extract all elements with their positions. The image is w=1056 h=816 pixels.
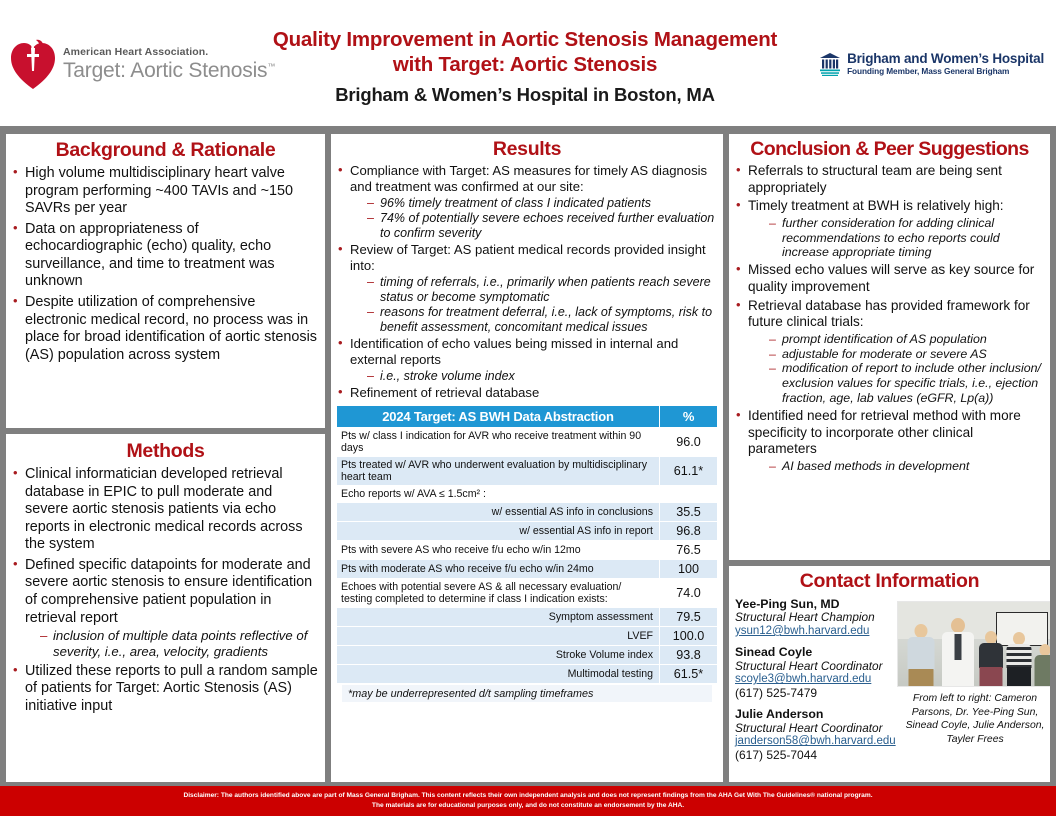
- sub-list-item: further consideration for adding clinica…: [768, 216, 1045, 261]
- contact-name: Sinead Coyle: [735, 645, 891, 659]
- results-sub-list-2: timing of referrals, i.e., primarily whe…: [350, 275, 718, 335]
- table-row: w/ essential AS info in conclusions35.5: [337, 502, 718, 521]
- table-row: Pts w/ class I indication for AVR who re…: [337, 427, 718, 456]
- poster-title-line1: Quality Improvement in Aortic Stenosis M…: [205, 28, 845, 53]
- contact-email-link[interactable]: ysun12@bwh.harvard.edu: [735, 625, 891, 638]
- table-cell-percent: 61.1*: [660, 456, 718, 485]
- disclaimer-footer: Disclaimer: The authors identified above…: [0, 786, 1056, 816]
- table-cell-percent: 61.5*: [660, 664, 718, 683]
- contact-role: Structural Heart Champion: [735, 611, 891, 625]
- table-row: Symptom assessment79.5: [337, 607, 718, 626]
- table-cell-percent: 76.5: [660, 540, 718, 559]
- table-col-header-percent: %: [660, 405, 718, 427]
- list-item-text: Timely treatment at BWH is relatively hi…: [748, 198, 1004, 213]
- contact-name: Yee-Ping Sun, MD: [735, 597, 891, 611]
- list-item: Utilized these reports to pull a random …: [10, 663, 319, 716]
- table-col-header-measure: 2024 Target: AS BWH Data Abstraction: [337, 405, 660, 427]
- photo-person: [1005, 626, 1032, 686]
- conclusion-sub-list-4: prompt identification of AS population a…: [748, 332, 1045, 406]
- methods-title: Methods: [6, 434, 325, 466]
- results-bullet-list: Compliance with Target: AS measures for …: [331, 163, 723, 401]
- contact-person: Sinead Coyle Structural Heart Coordinato…: [735, 645, 891, 700]
- table-cell-percent: 74.0: [660, 578, 718, 607]
- list-item: Despite utilization of comprehensive ele…: [10, 294, 319, 364]
- sub-list-item: modification of report to include other …: [768, 361, 1045, 406]
- list-item: Timely treatment at BWH is relatively hi…: [733, 198, 1045, 260]
- list-item-text: Review of Target: AS patient medical rec…: [350, 242, 706, 273]
- table-head: 2024 Target: AS BWH Data Abstraction %: [337, 405, 718, 427]
- table-row: w/ essential AS info in report96.8: [337, 521, 718, 540]
- sub-list-item: i.e., stroke volume index: [366, 369, 718, 384]
- table-cell-measure: Symptom assessment: [337, 607, 660, 626]
- disclaimer-line-1: Disclaimer: The authors identified above…: [183, 791, 872, 801]
- table-row: Pts with severe AS who receive f/u echo …: [337, 540, 718, 559]
- contact-name: Julie Anderson: [735, 707, 891, 721]
- contact-role: Structural Heart Coordinator: [735, 660, 891, 674]
- list-item-text: Identified need for retrieval method wit…: [748, 408, 1021, 456]
- table-cell-measure: Echoes with potential severe AS & all ne…: [337, 578, 660, 607]
- section-results: Results Compliance with Target: AS measu…: [331, 134, 723, 782]
- data-abstraction-table-wrap: 2024 Target: AS BWH Data Abstraction % P…: [336, 405, 718, 703]
- conclusion-bullet-list: Referrals to structural team are being s…: [729, 163, 1050, 474]
- table-row: Echoes with potential severe AS & all ne…: [337, 578, 718, 607]
- table-row: Multimodal testing61.5*: [337, 664, 718, 683]
- table-cell-percent: 96.0: [660, 427, 718, 456]
- photo-person: [1034, 634, 1050, 686]
- background-title: Background & Rationale: [6, 134, 325, 165]
- table-cell-measure: Pts w/ class I indication for AVR who re…: [337, 427, 660, 456]
- list-item-text: Retrieval database has provided framewor…: [748, 298, 1030, 330]
- table-cell-measure: Pts treated w/ AVR who underwent evaluat…: [337, 456, 660, 485]
- photo-person: [978, 628, 1004, 686]
- table-cell-measure: w/ essential AS info in conclusions: [337, 502, 660, 521]
- sub-list-item: 74% of potentially severe echoes receive…: [366, 211, 718, 241]
- list-item: Retrieval database has provided framewor…: [733, 298, 1045, 407]
- data-abstraction-table: 2024 Target: AS BWH Data Abstraction % P…: [336, 405, 718, 684]
- table-cell-percent: 100.0: [660, 626, 718, 645]
- contact-people-list: Yee-Ping Sun, MD Structural Heart Champi…: [735, 597, 891, 770]
- section-contact-information: Contact Information Yee-Ping Sun, MD Str…: [729, 566, 1050, 782]
- table-cell-measure: Multimodal testing: [337, 664, 660, 683]
- photo-person: [906, 624, 936, 686]
- table-cell-measure: LVEF: [337, 626, 660, 645]
- conclusion-title: Conclusion & Peer Suggestions: [729, 134, 1050, 163]
- contact-person: Julie Anderson Structural Heart Coordina…: [735, 707, 891, 762]
- list-item-text: Identification of echo values being miss…: [350, 336, 678, 367]
- contact-role: Structural Heart Coordinator: [735, 722, 891, 736]
- list-item: Missed echo values will serve as key sou…: [733, 262, 1045, 295]
- conclusion-sub-list-5: AI based methods in development: [748, 459, 1045, 474]
- contact-title: Contact Information: [729, 566, 1050, 597]
- sub-list-item: timing of referrals, i.e., primarily whe…: [366, 275, 718, 305]
- results-sub-list-3: i.e., stroke volume index: [350, 369, 718, 384]
- disclaimer-line-2: The materials are for educational purpos…: [372, 801, 684, 811]
- contact-photo-block: From left to right: Cameron Parsons, Dr.…: [895, 597, 1050, 770]
- sub-list-item: inclusion of multiple data points reflec…: [39, 628, 319, 660]
- list-item: Refinement of retrieval database: [335, 385, 718, 401]
- table-row: Pts treated w/ AVR who underwent evaluat…: [337, 456, 718, 485]
- poster-title-block: Quality Improvement in Aortic Stenosis M…: [205, 28, 845, 106]
- table-cell-measure: Pts with moderate AS who receive f/u ech…: [337, 559, 660, 578]
- bwh-tagline-label: Founding Member, Mass General Brigham: [847, 67, 1044, 76]
- table-cell-percent: 100: [660, 559, 718, 578]
- list-item-text: Defined specific datapoints for moderate…: [25, 557, 312, 626]
- aha-heart-torch-icon: [10, 38, 56, 90]
- table-cell-percent: 35.5: [660, 502, 718, 521]
- table-row: Pts with moderate AS who receive f/u ech…: [337, 559, 718, 578]
- list-item: Compliance with Target: AS measures for …: [335, 163, 718, 241]
- contact-person: Yee-Ping Sun, MD Structural Heart Champi…: [735, 597, 891, 638]
- sub-list-item: reasons for treatment deferral, i.e., la…: [366, 305, 718, 335]
- table-row: Echo reports w/ AVA ≤ 1.5cm² :: [337, 485, 718, 502]
- table-cell-percent: [660, 485, 718, 502]
- photo-person: [941, 618, 975, 686]
- photo-caption: From left to right: Cameron Parsons, Dr.…: [895, 692, 1050, 746]
- poster-title-line2: with Target: Aortic Stenosis: [205, 53, 845, 78]
- table-cell-measure: Pts with severe AS who receive f/u echo …: [337, 540, 660, 559]
- list-item: Data on appropriateness of echocardiogra…: [10, 221, 319, 291]
- section-conclusion-peer-suggestions: Conclusion & Peer Suggestions Referrals …: [729, 134, 1050, 560]
- table-cell-measure: Stroke Volume index: [337, 645, 660, 664]
- table-cell-percent: 79.5: [660, 607, 718, 626]
- section-background-rationale: Background & Rationale High volume multi…: [6, 134, 325, 428]
- contact-email-link[interactable]: scoyle3@bwh.harvard.edu: [735, 673, 891, 686]
- contact-body: Yee-Ping Sun, MD Structural Heart Champi…: [729, 597, 1050, 770]
- table-cell-measure: w/ essential AS info in report: [337, 521, 660, 540]
- contact-phone: (617) 525-7479: [735, 687, 891, 701]
- team-photo: [897, 601, 1050, 687]
- list-item: Clinical informatician developed retriev…: [10, 466, 319, 554]
- conclusion-sub-list-2: further consideration for adding clinica…: [748, 216, 1045, 261]
- sub-list-item: AI based methods in development: [768, 459, 1045, 474]
- poster-header: American Heart Association. Target: Aort…: [0, 0, 1056, 126]
- contact-phone: (617) 525-7044: [735, 749, 891, 763]
- list-item: Review of Target: AS patient medical rec…: [335, 242, 718, 335]
- table-cell-percent: 96.8: [660, 521, 718, 540]
- table-row: Stroke Volume index93.8: [337, 645, 718, 664]
- methods-sub-list: inclusion of multiple data points reflec…: [25, 628, 319, 660]
- section-methods: Methods Clinical informatician developed…: [6, 434, 325, 782]
- table-cell-percent: 93.8: [660, 645, 718, 664]
- poster-canvas: American Heart Association. Target: Aort…: [0, 0, 1056, 816]
- list-item: Identified need for retrieval method wit…: [733, 408, 1045, 474]
- list-item: High volume multidisciplinary heart valv…: [10, 165, 319, 218]
- contact-email-link[interactable]: janderson58@bwh.harvard.edu: [735, 735, 891, 748]
- results-sub-list-1: 96% timely treatment of class I indicate…: [350, 196, 718, 241]
- poster-subtitle: Brigham & Women’s Hospital in Boston, MA: [205, 84, 845, 106]
- bwh-building-icon: [819, 52, 841, 76]
- background-bullet-list: High volume multidisciplinary heart valv…: [6, 165, 325, 364]
- table-row: LVEF100.0: [337, 626, 718, 645]
- sub-list-item: adjustable for moderate or severe AS: [768, 347, 1045, 362]
- list-item: Referrals to structural team are being s…: [733, 163, 1045, 196]
- bwh-name-label: Brigham and Women’s Hospital: [847, 52, 1044, 67]
- list-item: Defined specific datapoints for moderate…: [10, 557, 319, 660]
- table-body: Pts w/ class I indication for AVR who re…: [337, 427, 718, 683]
- table-footnote: *may be underrepresented d/t sampling ti…: [341, 684, 713, 703]
- bwh-logo: Brigham and Women’s Hospital Founding Me…: [819, 52, 1044, 76]
- sub-list-item: prompt identification of AS population: [768, 332, 1045, 347]
- table-header-row: 2024 Target: AS BWH Data Abstraction %: [337, 405, 718, 427]
- methods-bullet-list: Clinical informatician developed retriev…: [6, 466, 325, 715]
- sub-list-item: 96% timely treatment of class I indicate…: [366, 196, 718, 211]
- list-item: Identification of echo values being miss…: [335, 336, 718, 384]
- results-title: Results: [331, 134, 723, 163]
- table-cell-measure: Echo reports w/ AVA ≤ 1.5cm² :: [337, 485, 660, 502]
- list-item-text: Compliance with Target: AS measures for …: [350, 163, 707, 194]
